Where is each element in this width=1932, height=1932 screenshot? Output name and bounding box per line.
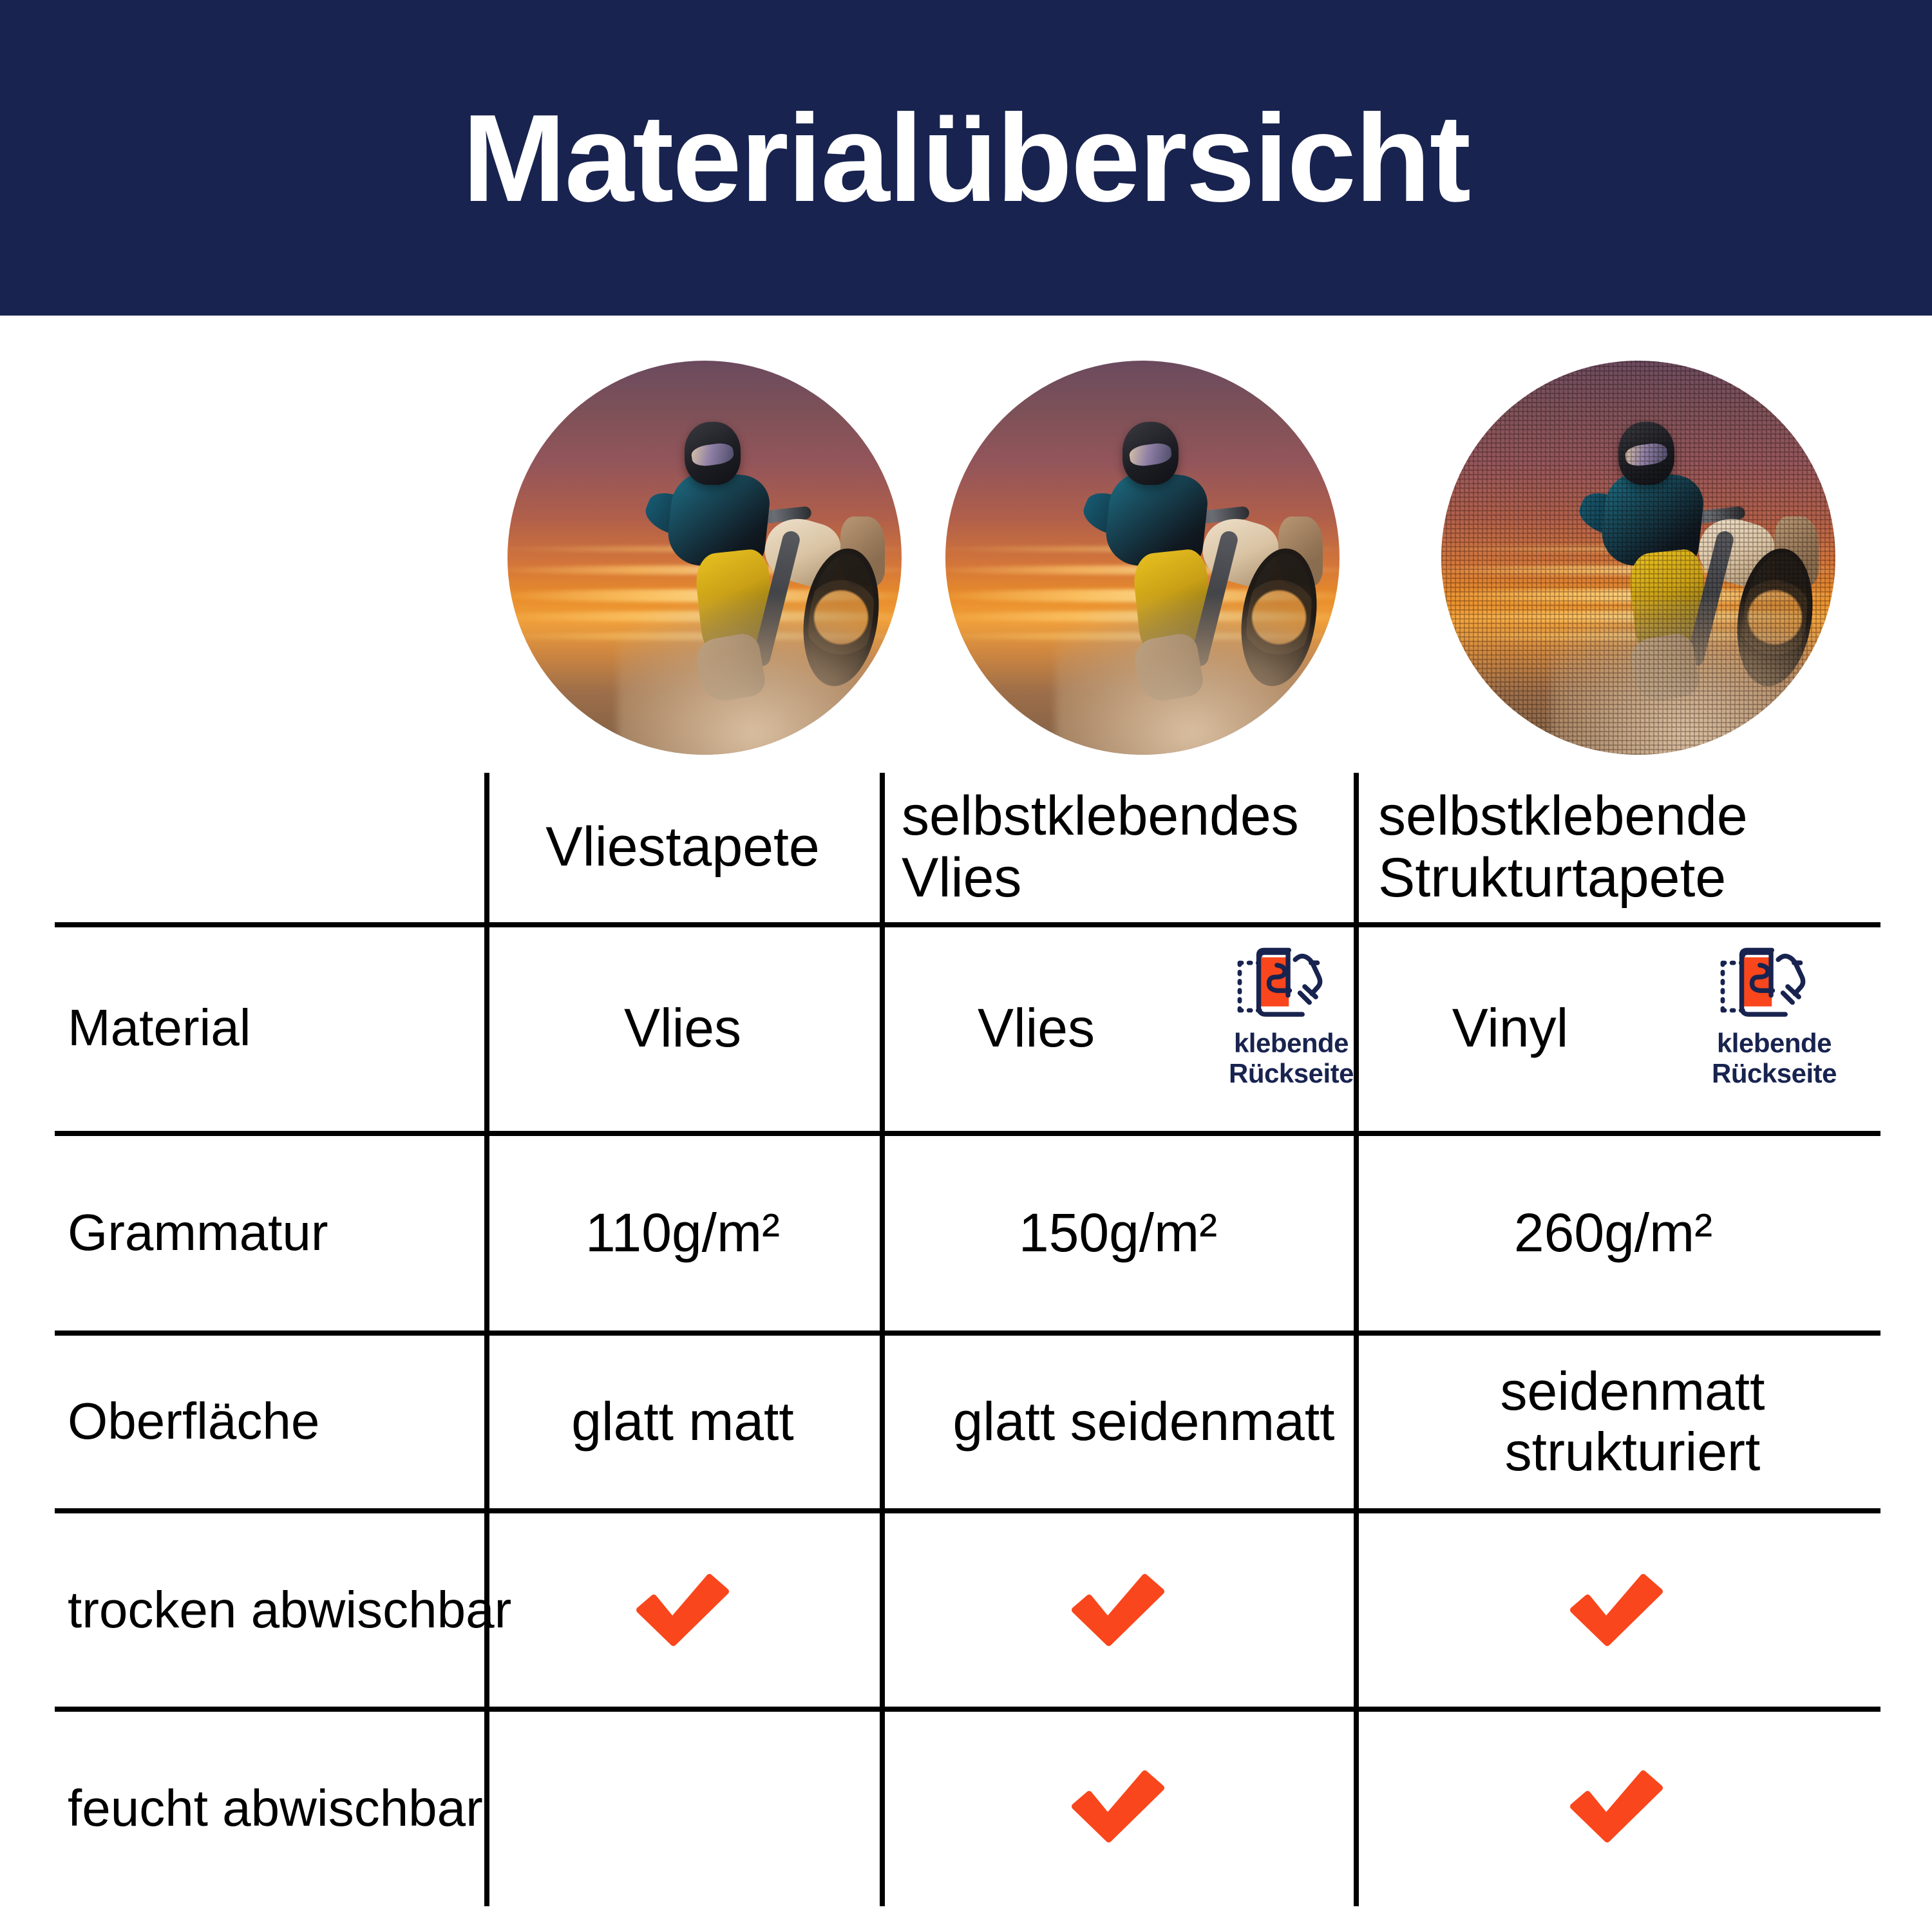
column-header-3: selbstklebende Strukturtapete	[1378, 770, 1842, 924]
cell-material-selbstklebendes-vlies: Vlies	[885, 927, 1188, 1128]
cell-oberflaeche-selbstklebendes-vlies: glatt seidenmatt	[885, 1336, 1403, 1507]
peeling-adhesive-sheet-icon	[1230, 945, 1352, 1028]
peeling-adhesive-sheet-icon	[1713, 945, 1835, 1028]
cell-material-vliestapete: Vlies	[489, 927, 876, 1128]
badge-label-line2: Rückseite	[1712, 1058, 1837, 1088]
check-trocken-strukturtapete	[1565, 1568, 1668, 1652]
row-label-trocken-abwischbar: trocken abwischbar	[0, 1513, 551, 1707]
table-row-divider	[55, 1707, 1880, 1712]
material-overview-infographic: Materialübersicht	[0, 0, 1932, 1932]
cell-grammatur-strukturtapete: 260g/m²	[1359, 1136, 1868, 1329]
badge-klebende-rueckseite: klebende Rückseite	[1217, 945, 1365, 1088]
column-header-1: Vliestapete	[489, 773, 876, 921]
column-header-2: selbstklebendes Vlies	[902, 770, 1352, 924]
row-label-material: Material	[0, 927, 551, 1128]
badge-label-line1: klebende	[1717, 1028, 1832, 1058]
badge-label-line2: Rückseite	[1229, 1058, 1354, 1088]
check-trocken-vliestapete	[631, 1568, 734, 1652]
badge-klebende-rueckseite: klebende Rückseite	[1700, 945, 1848, 1088]
table-row-divider	[55, 1508, 1880, 1513]
cell-grammatur-selbstklebendes-vlies: 150g/m²	[885, 1136, 1351, 1329]
row-label-grammatur: Grammatur	[0, 1136, 551, 1329]
badge-label-line1: klebende	[1234, 1028, 1349, 1058]
table-column-divider	[880, 773, 885, 1906]
cell-grammatur-vliestapete: 110g/m²	[489, 1136, 876, 1329]
check-feucht-strukturtapete	[1565, 1765, 1668, 1848]
row-label-feucht-abwischbar: feucht abwischbar	[0, 1712, 551, 1905]
cell-material-strukturtapete: Vinyl	[1359, 927, 1662, 1128]
table-row-divider	[55, 1331, 1880, 1336]
cell-oberflaeche-strukturtapete: seidenmatt strukturiert	[1359, 1336, 1906, 1507]
comparison-table: Vliestapete selbstklebendes Vlies selbst…	[0, 0, 1932, 1932]
cell-oberflaeche-vliestapete: glatt matt	[489, 1336, 876, 1507]
check-trocken-selbstklebendes-vlies	[1066, 1568, 1170, 1652]
table-row-divider	[55, 1131, 1880, 1136]
check-feucht-selbstklebendes-vlies	[1066, 1765, 1170, 1848]
row-label-oberflaeche: Oberfläche	[0, 1336, 551, 1507]
